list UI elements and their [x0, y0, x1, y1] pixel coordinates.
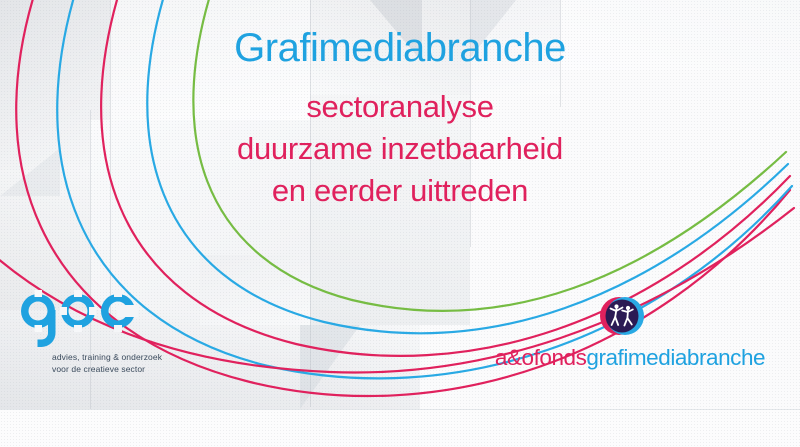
page-title: Grafimediabranche [0, 26, 800, 71]
subtitle-line-1: sectoranalyse [0, 86, 800, 128]
goc-tagline-line-2: voor de creatieve sector [52, 364, 162, 376]
goc-logo-wordmark-icon [18, 288, 138, 348]
goc-tagline-line-1: advies, training & onderzoek [52, 352, 162, 364]
subtitle-line-2: duurzame inzetbaarheid [0, 128, 800, 170]
ao-fonds-wordmark: a&ofondsgrafimediabranche [480, 345, 780, 371]
ao-fonds-figures-emblem-icon [599, 293, 645, 339]
page-subtitle: sectoranalyse duurzame inzetbaarheid en … [0, 86, 800, 212]
ao-fonds-wordmark-part1: a&ofonds [495, 345, 586, 370]
goc-logo-tagline: advies, training & onderzoek voor de cre… [52, 352, 162, 375]
cover-slide: Grafimediabranche sectoranalyse duurzame… [0, 0, 800, 447]
ao-fonds-wordmark-part2: grafimediabranche [586, 345, 765, 370]
subtitle-line-3: en eerder uittreden [0, 170, 800, 212]
